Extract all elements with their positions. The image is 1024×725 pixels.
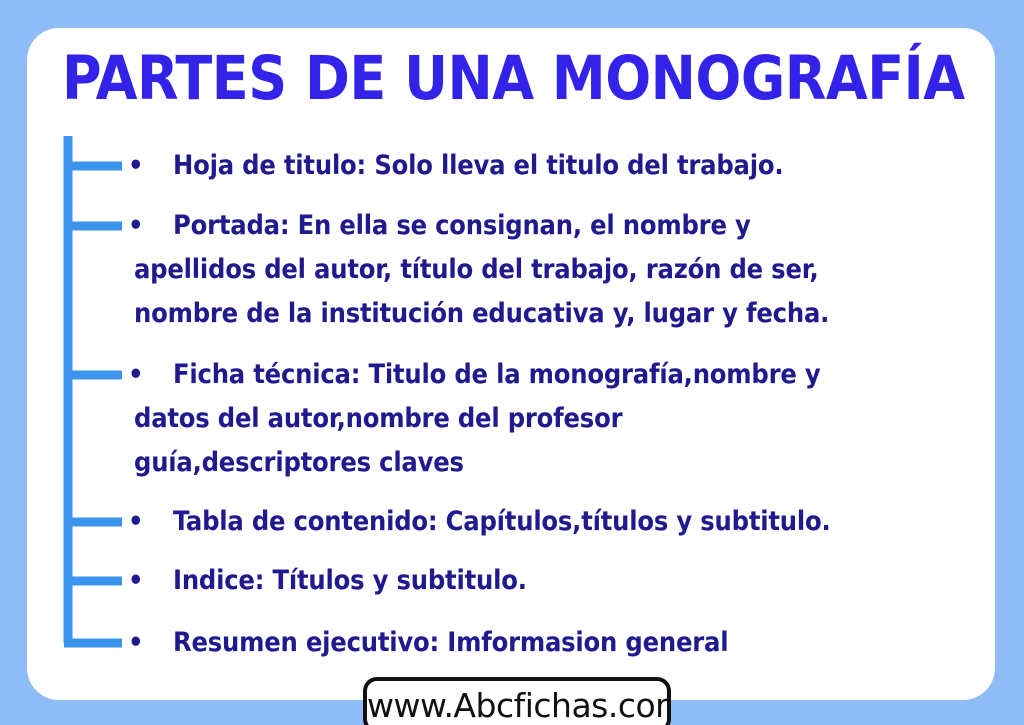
- bullet-icon: •: [128, 621, 142, 665]
- list-item-ficha-tecnica: •Ficha técnica: Titulo de la monografía,…: [120, 353, 980, 485]
- parts-list: •Hoja de titulo: Solo lleva el titulo de…: [120, 140, 980, 665]
- list-item-resumen-ejecutivo: •Resumen ejecutivo: Imformasion general: [120, 621, 980, 665]
- list-item-text: Tabla de contenido: Capítulos,títulos y …: [120, 500, 980, 544]
- list-item-tabla-de-contenido: •Tabla de contenido: Capítulos,títulos y…: [120, 500, 980, 544]
- list-item-line: Indice: Títulos y subtitulo.: [127, 559, 980, 603]
- bullet-icon: •: [128, 144, 142, 188]
- list-item-line: Tabla de contenido: Capítulos,títulos y …: [127, 500, 980, 544]
- list-item-line: Resumen ejecutivo: Imformasion general: [127, 621, 980, 665]
- bullet-icon: •: [128, 559, 142, 603]
- bullet-icon: •: [128, 353, 142, 397]
- list-item-hoja-de-titulo: •Hoja de titulo: Solo lleva el titulo de…: [120, 144, 980, 188]
- list-item-indice: •Indice: Títulos y subtitulo.: [120, 559, 980, 603]
- watermark-badge: www.Abcfichas.com: [363, 677, 671, 725]
- bullet-icon: •: [128, 500, 142, 544]
- bullet-icon: •: [128, 204, 142, 248]
- list-item-text: Hoja de titulo: Solo lleva el titulo del…: [120, 144, 980, 188]
- list-item-line: guía,descriptores claves: [127, 441, 980, 485]
- list-item-line: apellidos del autor, título del trabajo,…: [127, 248, 980, 292]
- list-item-text: Resumen ejecutivo: Imformasion general: [120, 621, 980, 665]
- list-item-line: datos del autor,nombre del profesor: [127, 397, 980, 441]
- list-item-text: Portada: En ella se consignan, el nombre…: [120, 204, 980, 336]
- list-item-line: nombre de la institución educativa y, lu…: [127, 292, 980, 336]
- list-item-line: Portada: En ella se consignan, el nombre…: [127, 204, 980, 248]
- list-item-text: Ficha técnica: Titulo de la monografía,n…: [120, 353, 980, 485]
- list-item-portada: •Portada: En ella se consignan, el nombr…: [120, 204, 980, 336]
- watermark-text: www.Abcfichas.com: [367, 680, 671, 725]
- list-item-line: Hoja de titulo: Solo lleva el titulo del…: [127, 144, 980, 188]
- list-item-line: Ficha técnica: Titulo de la monografía,n…: [127, 353, 980, 397]
- page-title: PARTES DE UNA MONOGRAFÍA: [62, 48, 958, 110]
- list-item-text: Indice: Títulos y subtitulo.: [120, 559, 980, 603]
